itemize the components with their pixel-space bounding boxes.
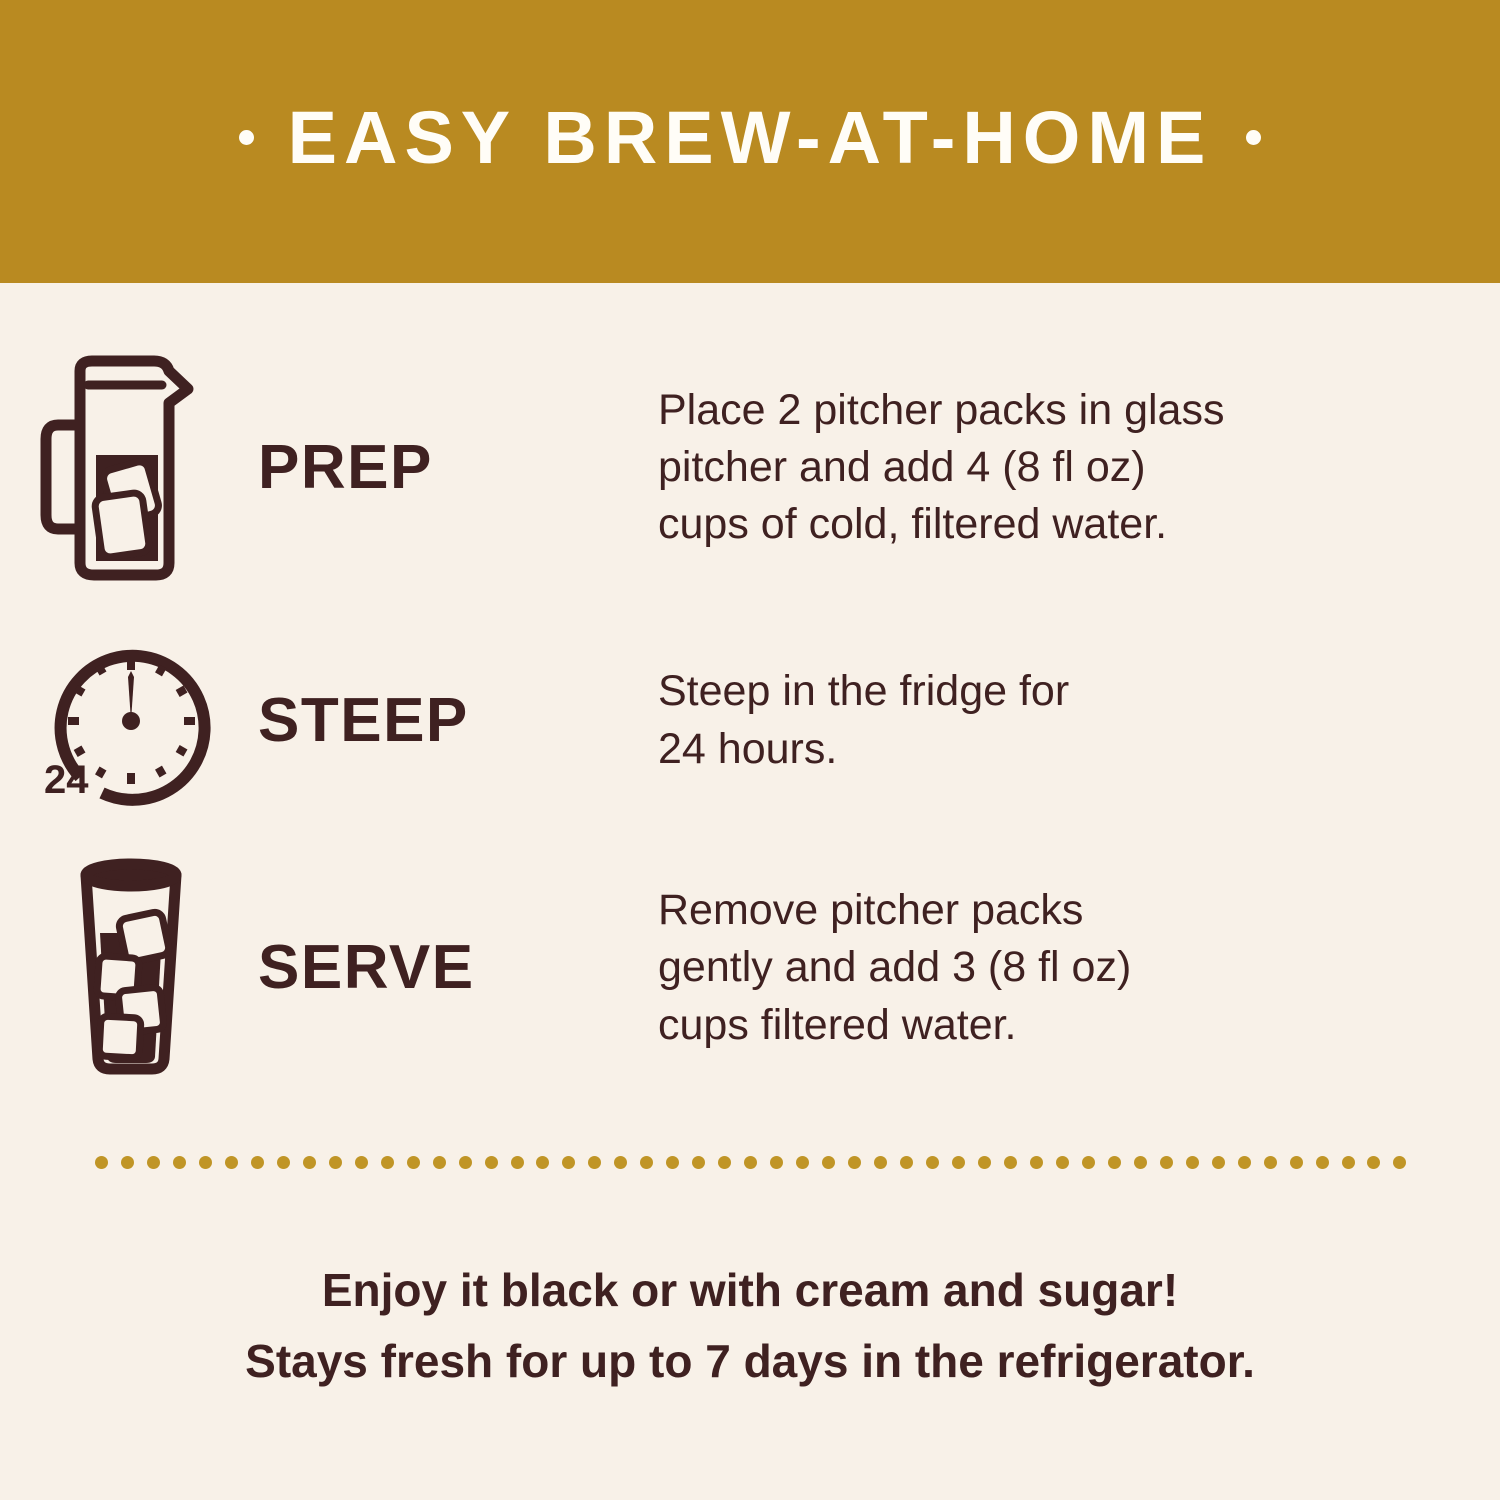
step-text-cell: Steep in the fridge for 24 hours. xyxy=(650,663,1500,777)
step-icon-cell xyxy=(0,345,250,590)
divider-dot xyxy=(744,1156,757,1169)
brew-instructions-card: EASY BREW-AT-HOME xyxy=(0,0,1500,1500)
header-band: EASY BREW-AT-HOME xyxy=(0,0,1500,283)
divider-dot xyxy=(1056,1156,1069,1169)
divider-dot xyxy=(666,1156,679,1169)
divider-dot xyxy=(1212,1156,1225,1169)
divider-dot xyxy=(1342,1156,1355,1169)
divider-dot xyxy=(355,1156,368,1169)
ice-cube-icon xyxy=(99,1016,141,1058)
header-inner: EASY BREW-AT-HOME xyxy=(239,101,1262,175)
divider-dot xyxy=(562,1156,575,1169)
divider-dot xyxy=(277,1156,290,1169)
page-title: EASY BREW-AT-HOME xyxy=(288,101,1213,175)
divider-dot xyxy=(1290,1156,1303,1169)
divider-dot xyxy=(381,1156,394,1169)
step-text-cell: Place 2 pitcher packs in glass pitcher a… xyxy=(650,382,1500,554)
bullet-dot-icon xyxy=(239,130,254,145)
divider-dot xyxy=(1030,1156,1043,1169)
divider-dot xyxy=(718,1156,731,1169)
divider-dot xyxy=(251,1156,264,1169)
divider-dot xyxy=(433,1156,446,1169)
divider-dot xyxy=(796,1156,809,1169)
divider-dot xyxy=(588,1156,601,1169)
step-label: STEEP xyxy=(258,690,469,752)
divider-dot xyxy=(1004,1156,1017,1169)
step-text-cell: Remove pitcher packs gently and add 3 (8… xyxy=(650,882,1500,1054)
divider-dot xyxy=(1108,1156,1121,1169)
step-row: SERVE Remove pitcher packs gently and ad… xyxy=(0,848,1500,1088)
step-row: PREP Place 2 pitcher packs in glass pitc… xyxy=(0,345,1500,590)
divider-dot xyxy=(199,1156,212,1169)
tea-pack-icon xyxy=(94,492,150,558)
step-label: SERVE xyxy=(258,937,475,999)
step-row: 24 STEEP Steep in the fridge for 24 hour… xyxy=(0,613,1500,828)
step-description: Steep in the fridge for 24 hours. xyxy=(658,663,1069,777)
divider-dot xyxy=(95,1156,108,1169)
iced-glass-icon xyxy=(36,853,226,1083)
step-label-cell: PREP xyxy=(250,437,650,499)
divider-dot xyxy=(640,1156,653,1169)
divider-dot xyxy=(692,1156,705,1169)
divider-dot xyxy=(407,1156,420,1169)
divider-dot xyxy=(329,1156,342,1169)
divider-dot xyxy=(770,1156,783,1169)
divider-dot xyxy=(900,1156,913,1169)
step-icon-cell xyxy=(0,853,250,1083)
divider-dot xyxy=(1134,1156,1147,1169)
divider-dot xyxy=(1238,1156,1251,1169)
divider-dot xyxy=(1393,1156,1406,1169)
divider-dot xyxy=(1186,1156,1199,1169)
divider-dot xyxy=(147,1156,160,1169)
step-description: Remove pitcher packs gently and add 3 (8… xyxy=(658,882,1131,1054)
divider-dot xyxy=(121,1156,134,1169)
divider-dot xyxy=(926,1156,939,1169)
bullet-dot-icon xyxy=(1246,130,1261,145)
divider-dot xyxy=(614,1156,627,1169)
divider-dot xyxy=(1082,1156,1095,1169)
clock-hours-badge: 24 xyxy=(44,758,89,802)
step-label: PREP xyxy=(258,437,433,499)
divider-dot xyxy=(459,1156,472,1169)
divider-dot xyxy=(173,1156,186,1169)
divider-dot xyxy=(848,1156,861,1169)
divider-dot xyxy=(822,1156,835,1169)
divider-dot xyxy=(1316,1156,1329,1169)
divider-dot xyxy=(874,1156,887,1169)
footer-line-1: Enjoy it black or with cream and sugar! xyxy=(0,1255,1500,1326)
step-description: Place 2 pitcher packs in glass pitcher a… xyxy=(658,382,1224,554)
footer-note: Enjoy it black or with cream and sugar! … xyxy=(0,1255,1500,1398)
divider-dot xyxy=(952,1156,965,1169)
divider-dot xyxy=(978,1156,991,1169)
dotted-divider xyxy=(95,1155,1407,1169)
divider-dot xyxy=(485,1156,498,1169)
divider-dot xyxy=(536,1156,549,1169)
step-label-cell: STEEP xyxy=(250,690,650,752)
divider-dot xyxy=(1367,1156,1380,1169)
divider-dot xyxy=(1160,1156,1173,1169)
step-icon-cell: 24 xyxy=(0,621,250,821)
divider-dot xyxy=(1264,1156,1277,1169)
pitcher-icon xyxy=(36,345,226,590)
divider-dot xyxy=(303,1156,316,1169)
step-label-cell: SERVE xyxy=(250,937,650,999)
clock-24-icon: 24 xyxy=(36,621,226,821)
divider-dot xyxy=(225,1156,238,1169)
footer-line-2: Stays fresh for up to 7 days in the refr… xyxy=(0,1326,1500,1397)
divider-dot xyxy=(511,1156,524,1169)
